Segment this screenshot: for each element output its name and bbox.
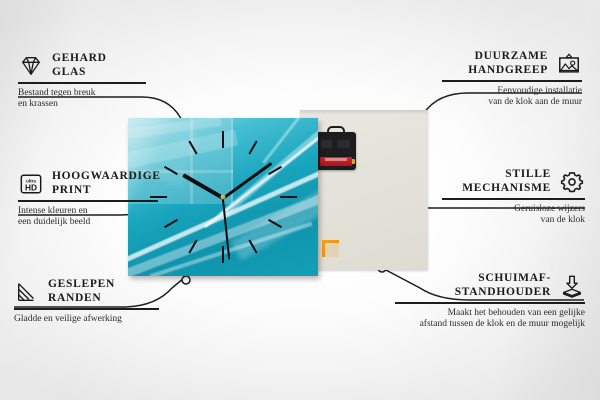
center-pin — [221, 195, 226, 200]
feature-rule — [18, 200, 158, 202]
feature-desc: Gladde en veilige afwerking — [14, 314, 159, 326]
tick-12 — [222, 131, 224, 148]
movement-hanger — [327, 126, 345, 136]
feature-duurzame-handgreep: DUURZAME HANDGREEP Eenvoudige installati… — [442, 50, 582, 109]
product-photo — [128, 104, 428, 276]
press-spacer-icon — [559, 274, 585, 298]
foam-spacer — [322, 240, 339, 257]
feature-gehard-glas: GEHARD GLAS Bestand tegen breuk en krass… — [18, 52, 146, 111]
gear-icon — [559, 170, 585, 194]
feature-desc: Eenvoudige installatie van de klok aan d… — [442, 86, 582, 109]
tick-1 — [248, 141, 257, 155]
feature-title: GESLEPEN RANDEN — [48, 278, 115, 305]
tick-3 — [280, 196, 297, 198]
clock-movement — [316, 132, 356, 170]
feature-title: SCHUIMAF- STANDHOUDER — [455, 272, 551, 299]
wire-endpoint-geslepen-randen — [182, 276, 190, 284]
feature-rule — [14, 308, 159, 310]
movement-slot-right — [337, 140, 350, 148]
feature-geslepen-randen: GESLEPEN RANDEN Gladde en veilige afwerk… — [14, 278, 159, 325]
feature-title: GEHARD GLAS — [52, 52, 107, 79]
tick-6 — [222, 246, 224, 263]
battery — [320, 157, 352, 166]
feature-title: HOOGWAARDIGE PRINT — [52, 170, 161, 197]
feature-desc: Bestand tegen breuk en krassen — [18, 88, 146, 111]
feature-rule — [442, 80, 582, 82]
diamond-icon — [18, 54, 44, 78]
back-glass-panel — [300, 110, 428, 270]
feature-desc: Geruisloze wijzers van de klok — [442, 204, 585, 227]
ultra-hd-icon: ultra HD — [18, 172, 44, 196]
feature-rule — [395, 302, 585, 304]
feature-hoogwaardige-print: ultra HD HOOGWAARDIGE PRINT Intense kleu… — [18, 170, 158, 229]
tick-8 — [164, 219, 178, 228]
framed-picture-icon — [556, 52, 582, 76]
beveled-edges-icon — [14, 280, 40, 304]
svg-text:HD: HD — [25, 182, 37, 192]
feature-rule — [18, 82, 146, 84]
feature-schuimafstandhouder: SCHUIMAF- STANDHOUDER Maakt het behouden… — [395, 272, 585, 331]
feature-desc: Intense kleuren en een duidelijk beeld — [18, 206, 158, 229]
feature-desc: Maakt het behouden van een gelijke afsta… — [395, 308, 585, 331]
movement-slot-left — [321, 140, 332, 148]
feature-stille-mechanisme: STILLE MECHANISME Geruisloze wijzers van… — [442, 168, 585, 227]
battery-label — [325, 158, 347, 161]
feature-rule — [442, 198, 585, 200]
infographic-canvas: GEHARD GLAS Bestand tegen breuk en krass… — [0, 0, 600, 400]
feature-title: STILLE MECHANISME — [462, 168, 551, 195]
feature-title: DUURZAME HANDGREEP — [468, 50, 548, 77]
